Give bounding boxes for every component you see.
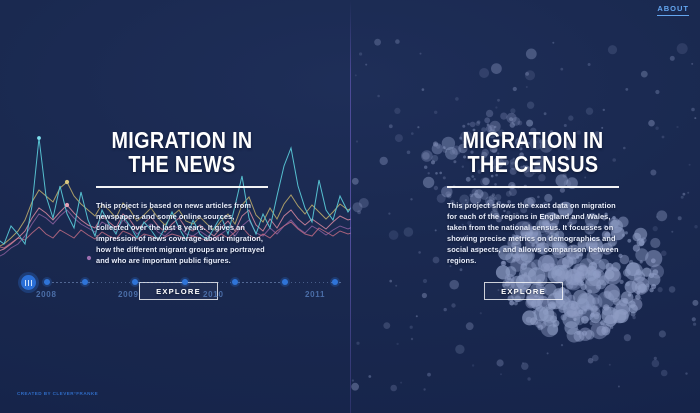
census-bubble[interactable]	[623, 269, 631, 277]
news-timeline[interactable]: 2008200920102011	[0, 274, 351, 308]
timeline-dot	[129, 282, 131, 284]
series-cyan-highlight-point	[37, 136, 41, 140]
census-bubble[interactable]	[355, 74, 357, 76]
census-bubble[interactable]	[635, 248, 648, 261]
census-explore-button[interactable]: EXPLORE	[484, 282, 563, 300]
timeline-year-labels: 2008200920102011	[0, 290, 351, 304]
timeline-dot	[157, 282, 159, 284]
series-pink-highlight-point	[65, 203, 69, 207]
census-bubble[interactable]	[509, 301, 514, 306]
census-bubble[interactable]	[624, 334, 631, 341]
timeline-marker[interactable]	[132, 279, 138, 285]
census-bubble[interactable]	[526, 86, 528, 88]
census-title: MIGRATION IN THE CENSUS	[459, 128, 607, 176]
timeline-dot	[92, 282, 94, 284]
timeline-dot	[145, 282, 147, 284]
timeline-year-label: 2008	[36, 290, 57, 299]
census-bubble[interactable]	[434, 111, 437, 114]
census-bubble[interactable]	[693, 323, 696, 326]
census-bubble[interactable]	[356, 140, 358, 142]
census-bubble[interactable]	[586, 108, 593, 115]
census-bubble[interactable]	[625, 88, 628, 91]
census-bubble[interactable]	[656, 210, 667, 221]
census-bubble[interactable]	[390, 385, 397, 392]
census-bubble[interactable]	[652, 360, 660, 368]
census-bubble[interactable]	[625, 231, 628, 234]
timeline-dot	[246, 282, 248, 284]
census-bubble[interactable]	[621, 291, 634, 304]
census-bubble[interactable]	[527, 377, 530, 380]
timeline-year-label: 2010	[203, 290, 224, 299]
census-bubble[interactable]	[423, 388, 425, 390]
panel-migration-in-the-census[interactable]: MIGRATION IN THE CENSUS This project sho…	[351, 0, 700, 413]
timeline-dot	[250, 282, 252, 284]
census-bubble[interactable]	[365, 64, 367, 66]
timeline-dot	[177, 282, 179, 284]
census-bubble[interactable]	[512, 117, 521, 126]
timeline-dot	[161, 282, 163, 284]
timeline-dot	[291, 282, 293, 284]
census-bubble[interactable]	[352, 379, 354, 381]
census-bubble[interactable]	[650, 238, 660, 248]
timeline-track[interactable]	[44, 281, 339, 286]
census-bubble[interactable]	[495, 106, 497, 108]
census-bubble[interactable]	[424, 166, 427, 169]
census-bubble[interactable]	[638, 284, 647, 293]
census-bubble[interactable]	[526, 49, 537, 60]
credit-text: CREATED BY CLEVER	[17, 391, 74, 396]
timeline-dot	[278, 282, 280, 284]
census-content-block: MIGRATION IN THE CENSUS This project sho…	[447, 128, 619, 300]
census-bubble[interactable]	[383, 322, 390, 329]
timeline-dot	[117, 282, 119, 284]
census-bubble[interactable]	[396, 343, 398, 345]
timeline-dot	[121, 282, 123, 284]
census-bubble[interactable]	[435, 172, 438, 175]
census-bubble[interactable]	[655, 90, 659, 94]
census-bubble[interactable]	[560, 68, 563, 71]
timeline-dot	[165, 282, 167, 284]
census-bubble[interactable]	[491, 63, 502, 74]
census-bubble[interactable]	[484, 117, 490, 123]
news-title-rule	[96, 186, 268, 188]
census-bubble[interactable]	[421, 150, 433, 162]
census-bubble[interactable]	[594, 321, 596, 323]
census-bubble[interactable]	[486, 110, 493, 117]
census-bubble[interactable]	[439, 172, 442, 175]
census-bubble[interactable]	[694, 225, 697, 228]
timeline-dot	[222, 282, 224, 284]
timeline-dot	[214, 282, 216, 284]
census-bubble[interactable]	[411, 132, 414, 135]
census-bubble[interactable]	[353, 202, 363, 212]
census-bubble[interactable]	[410, 198, 412, 200]
census-bubble[interactable]	[510, 108, 515, 113]
census-bubble[interactable]	[654, 357, 657, 360]
timeline-dot	[60, 282, 62, 284]
news-title-line-1: MIGRATION IN	[111, 127, 252, 153]
census-bubble[interactable]	[423, 279, 427, 283]
census-bubble[interactable]	[477, 120, 480, 123]
timeline-year-label: 2009	[118, 290, 139, 299]
timeline-dot	[105, 282, 107, 284]
census-bubble[interactable]	[368, 375, 371, 378]
census-bubble[interactable]	[444, 308, 447, 311]
census-bubble[interactable]	[661, 370, 668, 377]
census-bubble[interactable]	[659, 330, 666, 337]
timeline-dot	[303, 282, 305, 284]
census-bubble[interactable]	[691, 63, 693, 65]
census-bubble[interactable]	[513, 87, 517, 91]
census-bubble[interactable]	[592, 355, 599, 362]
census-bubble[interactable]	[416, 315, 418, 317]
timeline-marker[interactable]	[82, 279, 88, 285]
timeline-dot	[226, 282, 228, 284]
census-bubble[interactable]	[658, 287, 663, 292]
census-bubble[interactable]	[428, 172, 430, 174]
census-bubble[interactable]	[683, 193, 686, 196]
timeline-dot	[254, 282, 256, 284]
census-bubble[interactable]	[377, 95, 380, 98]
census-bubble[interactable]	[561, 314, 567, 320]
census-bubble[interactable]	[689, 164, 691, 166]
census-bubble[interactable]	[455, 97, 459, 101]
timeline-dot	[72, 282, 74, 284]
census-bubble[interactable]	[618, 217, 629, 228]
census-bubble[interactable]	[436, 145, 440, 149]
census-bubble[interactable]	[662, 136, 665, 139]
timeline-dot	[242, 282, 244, 284]
timeline-dot	[76, 282, 78, 284]
census-bubble[interactable]	[547, 352, 549, 354]
census-bubble[interactable]	[562, 301, 565, 304]
census-bubble[interactable]	[497, 359, 504, 366]
census-bubble[interactable]	[467, 123, 470, 126]
census-bubble[interactable]	[427, 373, 431, 377]
census-bubble[interactable]	[420, 53, 422, 55]
census-bubble[interactable]	[620, 255, 630, 265]
timeline-marker[interactable]	[232, 279, 238, 285]
census-bubble[interactable]	[623, 147, 626, 150]
census-title-rule	[447, 186, 619, 188]
census-bubble[interactable]	[691, 108, 695, 112]
timeline-dot	[125, 282, 127, 284]
timeline-dot	[109, 282, 111, 284]
census-bubble[interactable]	[455, 345, 464, 354]
census-bubble[interactable]	[434, 186, 438, 190]
census-bubble[interactable]	[631, 312, 636, 317]
timeline-dot	[262, 282, 264, 284]
census-bubble[interactable]	[544, 112, 547, 115]
landing-page: MIGRATION IN THE NEWS This project is ba…	[0, 0, 700, 413]
census-bubble[interactable]	[404, 227, 414, 237]
series-tan-highlight-point	[65, 180, 69, 184]
news-description: This project is based on news articles f…	[96, 200, 268, 266]
census-bubble[interactable]	[410, 326, 413, 329]
census-bubble[interactable]	[603, 304, 609, 310]
census-bubble[interactable]	[451, 303, 455, 307]
census-bubble[interactable]	[443, 176, 446, 179]
census-bubble[interactable]	[527, 102, 534, 109]
census-bubble[interactable]	[500, 113, 507, 120]
news-title: MIGRATION IN THE NEWS	[108, 128, 256, 176]
timeline-dot	[299, 282, 301, 284]
timeline-year-label: 2011	[305, 290, 325, 299]
census-bubble[interactable]	[627, 239, 631, 243]
timeline-dot	[52, 282, 54, 284]
timeline-dot	[274, 282, 276, 284]
census-bubble[interactable]	[655, 127, 658, 130]
census-bubble[interactable]	[692, 317, 696, 321]
timeline-dot	[307, 282, 309, 284]
census-bubble[interactable]	[609, 364, 611, 366]
census-bubble[interactable]	[418, 251, 421, 254]
census-bubble[interactable]	[417, 126, 419, 128]
census-bubble[interactable]	[466, 322, 474, 330]
timeline-dot	[270, 282, 272, 284]
census-bubble[interactable]	[359, 52, 362, 55]
census-bubble[interactable]	[400, 382, 402, 384]
census-bubble[interactable]	[637, 238, 645, 246]
timeline-dot	[189, 282, 191, 284]
census-bubble[interactable]	[479, 68, 489, 78]
census-bubble[interactable]	[613, 310, 626, 323]
census-bubble[interactable]	[661, 251, 667, 257]
timeline-dot	[238, 282, 240, 284]
census-bubble[interactable]	[407, 151, 411, 155]
timeline-dot	[311, 282, 313, 284]
census-bubble[interactable]	[650, 170, 656, 176]
timeline-dot	[173, 282, 175, 284]
timeline-marker[interactable]	[332, 279, 338, 285]
timeline-dot	[315, 282, 317, 284]
census-bubble[interactable]	[388, 213, 390, 215]
timeline-dot	[101, 282, 103, 284]
census-bubble[interactable]	[548, 304, 551, 307]
timeline-dot	[194, 282, 196, 284]
timeline-dot	[153, 282, 155, 284]
timeline-dot	[97, 282, 99, 284]
census-bubble[interactable]	[521, 363, 528, 370]
census-bubble[interactable]	[561, 344, 563, 346]
census-bubble[interactable]	[608, 45, 617, 54]
census-title-line-2: THE CENSUS	[459, 152, 607, 176]
timeline-dot	[295, 282, 297, 284]
census-bubble[interactable]	[694, 117, 696, 119]
census-bubble[interactable]	[685, 372, 687, 374]
census-bubble[interactable]	[423, 177, 434, 188]
census-bubble[interactable]	[640, 298, 642, 300]
census-bubble[interactable]	[649, 288, 653, 292]
census-bubble[interactable]	[618, 386, 620, 388]
census-bubble[interactable]	[677, 43, 688, 54]
census-bubble[interactable]	[651, 258, 656, 263]
census-bubble[interactable]	[380, 157, 388, 165]
news-title-line-2: THE NEWS	[108, 152, 256, 176]
timeline-dot	[169, 282, 171, 284]
census-bubble[interactable]	[553, 320, 560, 327]
census-bubble[interactable]	[500, 373, 502, 375]
census-bubble[interactable]	[591, 322, 608, 339]
timeline-dot	[88, 282, 90, 284]
timeline-dot	[56, 282, 58, 284]
census-bubble[interactable]	[653, 226, 658, 231]
panel-migration-in-the-news[interactable]: MIGRATION IN THE NEWS This project is ba…	[0, 0, 351, 413]
census-bubble[interactable]	[603, 109, 605, 111]
census-bubble[interactable]	[670, 56, 675, 61]
census-bubble[interactable]	[480, 312, 482, 314]
census-bubble[interactable]	[571, 311, 580, 320]
timeline-dot	[113, 282, 115, 284]
census-bubble[interactable]	[411, 338, 413, 340]
census-bubble[interactable]	[497, 99, 500, 102]
panel-divider	[350, 0, 351, 413]
census-bubble[interactable]	[526, 120, 533, 127]
census-bubble[interactable]	[395, 134, 403, 142]
series-purple-highlight-point	[87, 256, 91, 260]
census-bubble[interactable]	[692, 300, 698, 306]
census-bubble[interactable]	[629, 260, 633, 264]
timeline-dot	[339, 282, 341, 284]
census-bubble[interactable]	[422, 88, 425, 91]
census-bubble[interactable]	[671, 231, 673, 233]
census-bubble[interactable]	[591, 307, 601, 317]
census-bubble[interactable]	[434, 143, 436, 145]
about-link[interactable]: ABOUT	[657, 4, 689, 16]
census-bubble[interactable]	[530, 301, 534, 305]
census-bubble[interactable]	[389, 230, 399, 240]
census-bubble[interactable]	[635, 294, 641, 300]
census-bubble[interactable]	[435, 229, 437, 231]
timeline-dot	[258, 282, 260, 284]
timeline-dot	[210, 282, 212, 284]
census-bubble[interactable]	[632, 316, 635, 319]
census-bubble[interactable]	[539, 307, 554, 322]
timeline-dot	[327, 282, 329, 284]
census-bubble[interactable]	[634, 271, 645, 282]
pause-icon[interactable]	[21, 275, 36, 290]
timeline-dot	[202, 282, 204, 284]
census-bubble[interactable]	[394, 108, 400, 114]
census-title-line-1: MIGRATION IN	[462, 127, 603, 153]
timeline-dot	[68, 282, 70, 284]
timeline-dot	[218, 282, 220, 284]
census-bubble[interactable]	[374, 39, 381, 46]
census-bubble[interactable]	[678, 216, 682, 220]
census-bubble[interactable]	[588, 63, 591, 66]
census-bubble[interactable]	[352, 178, 359, 185]
timeline-dot	[149, 282, 151, 284]
timeline-dot	[319, 282, 321, 284]
census-bubble[interactable]	[641, 71, 648, 78]
census-bubble[interactable]	[620, 280, 624, 284]
timeline-dot	[266, 282, 268, 284]
timeline-dot	[64, 282, 66, 284]
census-bubble[interactable]	[395, 285, 397, 287]
census-bubble[interactable]	[433, 257, 440, 264]
census-bubble[interactable]	[669, 286, 676, 293]
census-bubble[interactable]	[422, 293, 427, 298]
census-bubble[interactable]	[676, 126, 678, 128]
census-bubble[interactable]	[552, 42, 554, 44]
census-bubble[interactable]	[356, 342, 359, 345]
timeline-marker[interactable]	[44, 279, 50, 285]
census-bubble[interactable]	[687, 192, 689, 194]
census-bubble[interactable]	[568, 115, 573, 120]
census-bubble[interactable]	[389, 124, 393, 128]
timeline-marker[interactable]	[182, 279, 188, 285]
timeline-dot	[206, 282, 208, 284]
census-bubble[interactable]	[525, 70, 535, 80]
timeline-dot	[323, 282, 325, 284]
census-bubble[interactable]	[648, 120, 655, 127]
census-description: This project shows the exact data on mig…	[447, 200, 619, 266]
census-bubble[interactable]	[610, 326, 613, 329]
census-bubble[interactable]	[681, 196, 684, 199]
credit-brand: FRANKE	[76, 391, 98, 396]
census-bubble[interactable]	[571, 302, 579, 310]
census-bubble[interactable]	[395, 39, 400, 44]
census-bubble[interactable]	[472, 364, 474, 366]
credit-line[interactable]: CREATED BY CLEVER°FRANKE	[17, 391, 98, 396]
timeline-dot	[141, 282, 143, 284]
census-bubble[interactable]	[389, 280, 392, 283]
census-bubble[interactable]	[351, 383, 359, 391]
timeline-dot	[198, 282, 200, 284]
timeline-marker[interactable]	[282, 279, 288, 285]
